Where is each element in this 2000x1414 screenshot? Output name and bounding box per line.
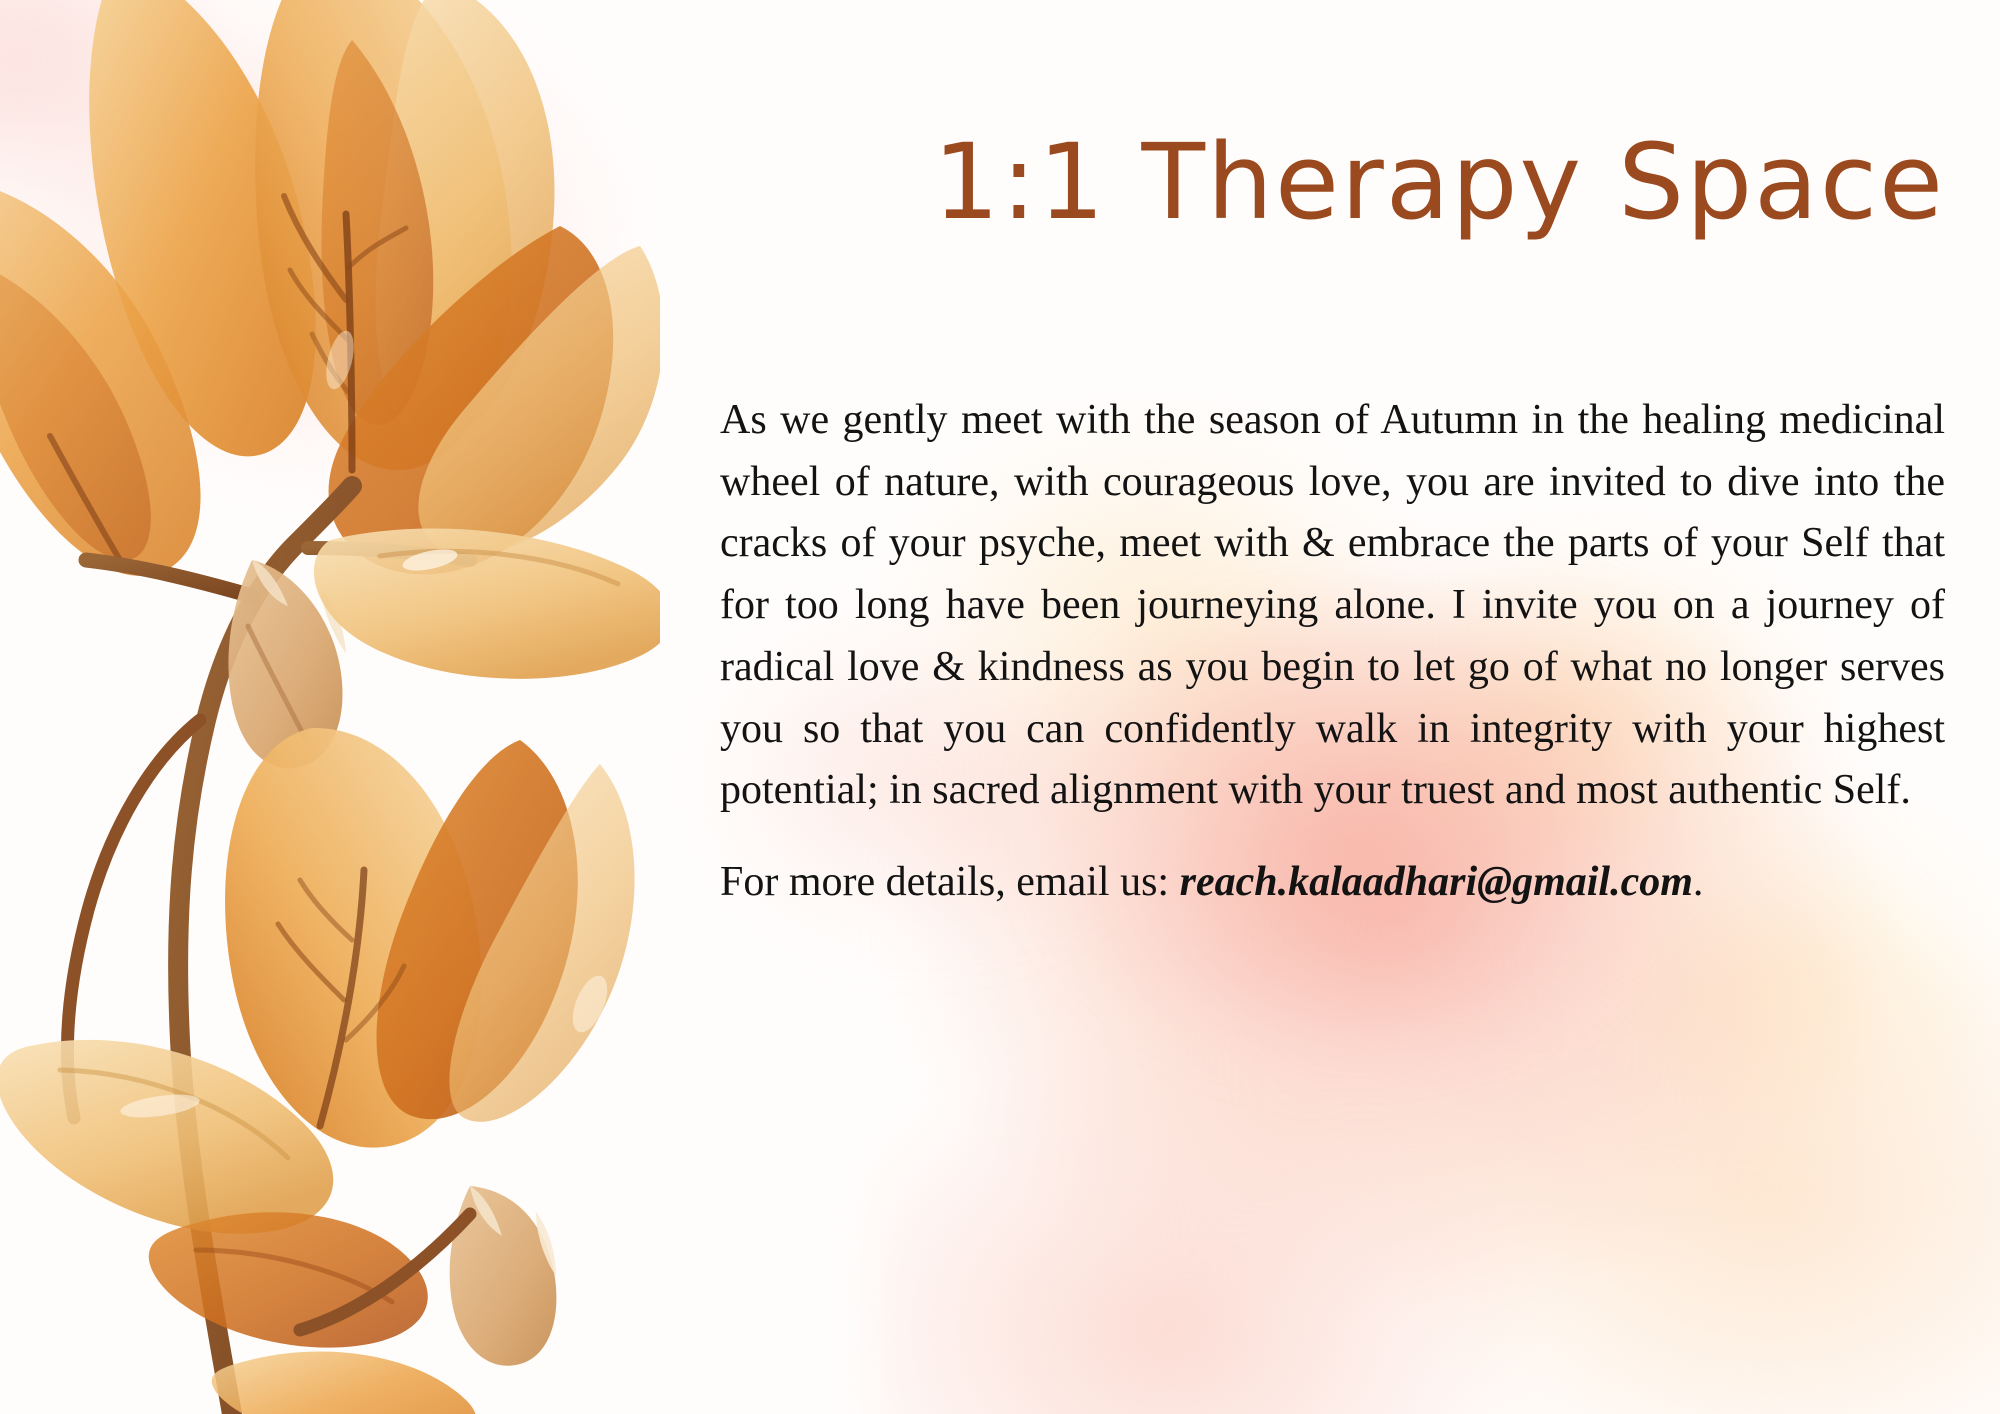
autumn-leaves-illustration bbox=[0, 0, 660, 1414]
page-title: 1:1 Therapy Space bbox=[700, 128, 1945, 237]
poster-canvas: 1:1 Therapy Space As we gently meet with… bbox=[0, 0, 2000, 1414]
contact-paragraph: For more details, email us: reach.kalaad… bbox=[720, 852, 1945, 914]
body-text-block: As we gently meet with the season of Aut… bbox=[720, 390, 1945, 914]
intro-paragraph: As we gently meet with the season of Aut… bbox=[720, 390, 1945, 822]
contact-suffix-label: . bbox=[1693, 859, 1704, 905]
poster-content: 1:1 Therapy Space As we gently meet with… bbox=[700, 0, 1955, 1414]
contact-email-link[interactable]: reach.kalaadhari@gmail.com bbox=[1180, 859, 1693, 905]
contact-prefix-label: For more details, email us: bbox=[720, 859, 1180, 905]
